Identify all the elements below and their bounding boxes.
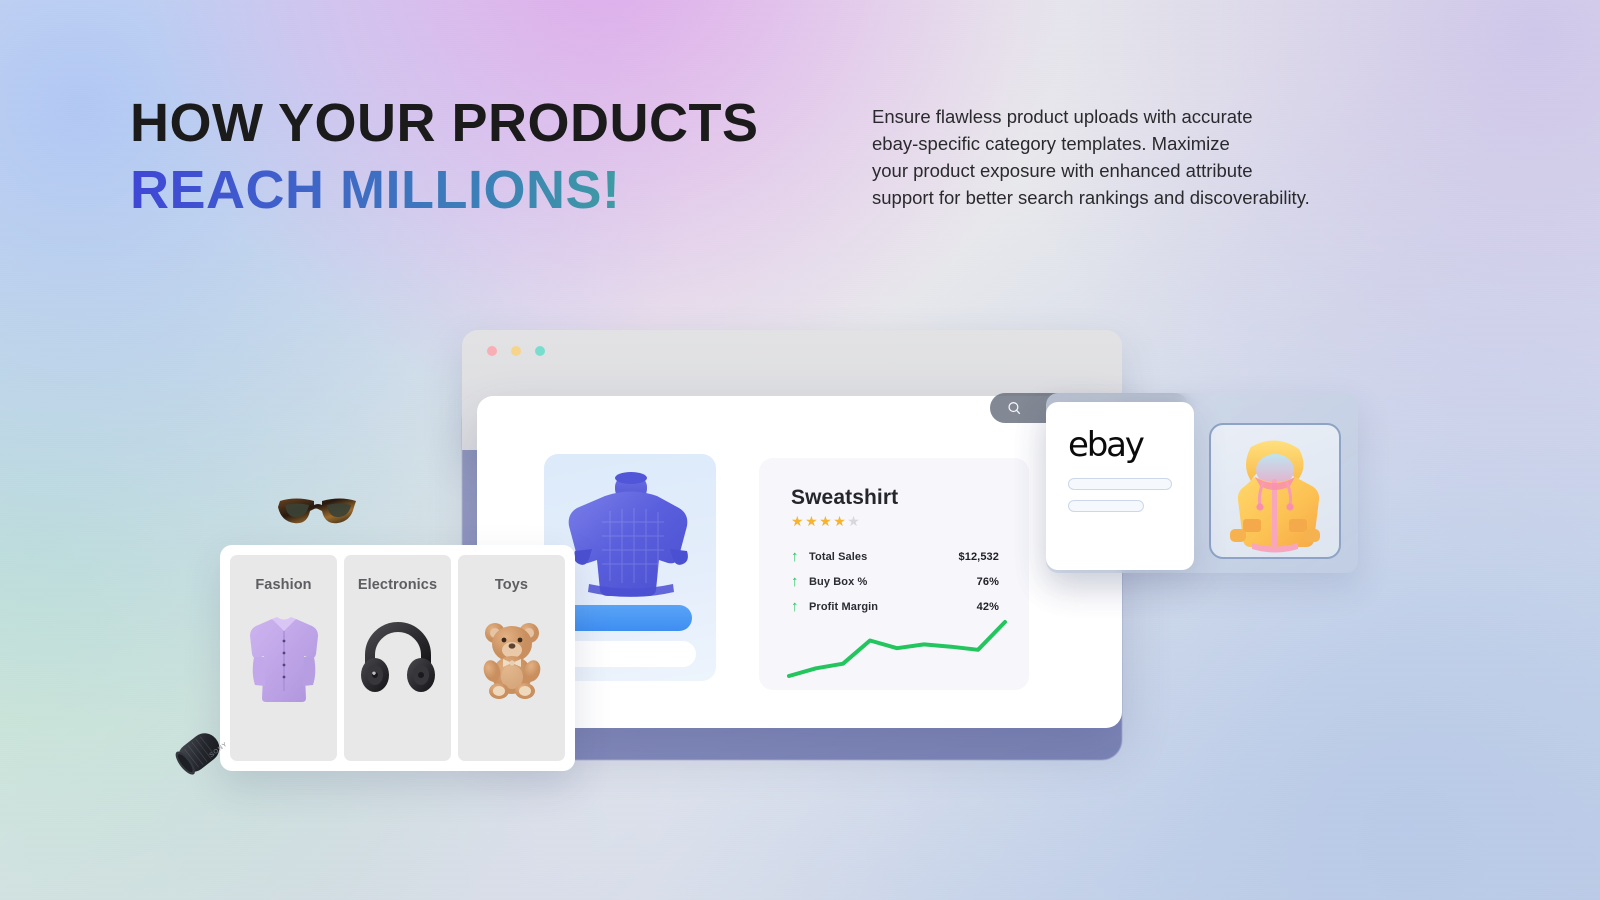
- window-controls[interactable]: [487, 346, 545, 356]
- sales-trend-sparkline: [783, 616, 1011, 682]
- category-tile-toys[interactable]: Toys: [458, 555, 565, 761]
- headline-line-1: HOW YOUR PRODUCTS: [130, 95, 890, 152]
- category-label: Fashion: [255, 577, 311, 593]
- product-secondary-button[interactable]: [562, 641, 696, 667]
- trend-up-icon: ↑: [791, 549, 809, 564]
- category-tile-fashion[interactable]: Fashion: [230, 555, 337, 761]
- page-title: HOW YOUR PRODUCTS REACH MILLIONS!: [130, 95, 890, 219]
- metric-label: Profit Margin: [809, 601, 977, 613]
- minimize-dot-icon[interactable]: [511, 346, 521, 356]
- star-filled-icon: ★: [805, 513, 819, 529]
- product-name: Sweatshirt: [791, 486, 898, 510]
- hero-banner: HOW YOUR PRODUCTS REACH MILLIONS! Ensure…: [0, 0, 1600, 900]
- sweater-3d-icon: [560, 466, 702, 606]
- headline-line-2: REACH MILLIONS!: [130, 162, 890, 219]
- metric-value: $12,532: [959, 551, 999, 563]
- listing-thumbnail-frame[interactable]: [1209, 423, 1341, 559]
- ebay-logo: ebay: [1068, 428, 1143, 462]
- star-filled-icon: ★: [833, 513, 847, 529]
- close-dot-icon[interactable]: [487, 346, 497, 356]
- description-line-2: ebay-specific category templates. Maximi…: [872, 130, 1472, 157]
- category-label: Toys: [495, 577, 528, 593]
- headphones-icon: [356, 611, 440, 703]
- teddy-bear-icon: [470, 611, 554, 703]
- metric-value: 76%: [977, 576, 999, 588]
- description-line-1: Ensure flawless product uploads with acc…: [872, 103, 1472, 130]
- trend-up-icon: ↑: [791, 599, 809, 614]
- star-empty-icon: ★: [847, 513, 861, 529]
- dress-shirt-icon: [242, 611, 326, 703]
- star-filled-icon: ★: [791, 513, 805, 529]
- description-line-3: your product exposure with enhanced attr…: [872, 157, 1472, 184]
- star-filled-icon: ★: [819, 513, 833, 529]
- metric-row: ↑ Total Sales $12,532: [791, 544, 999, 569]
- raincoat-3d-icon: [1211, 425, 1339, 557]
- trend-up-icon: ↑: [791, 574, 809, 589]
- category-cards-group: Fashion: [220, 545, 575, 771]
- metric-value: 42%: [977, 601, 999, 613]
- search-icon: [1006, 400, 1023, 417]
- metric-row: ↑ Buy Box % 76%: [791, 569, 999, 594]
- product-stats-card: Sweatshirt ★★★★★ ↑ Total Sales $12,532 ↑…: [759, 458, 1029, 690]
- metrics-list: ↑ Total Sales $12,532 ↑ Buy Box % 76% ↑ …: [791, 544, 999, 619]
- maximize-dot-icon[interactable]: [535, 346, 545, 356]
- description-line-4: support for better search rankings and d…: [872, 184, 1472, 211]
- category-tile-electronics[interactable]: Electronics: [344, 555, 451, 761]
- skeleton-line: [1068, 478, 1172, 490]
- bluetooth-speaker-icon: SONY: [170, 722, 228, 784]
- skeleton-placeholder-lines: [1068, 478, 1172, 522]
- rating-stars: ★★★★★: [791, 514, 861, 528]
- skeleton-line: [1068, 500, 1144, 512]
- metric-label: Total Sales: [809, 551, 959, 563]
- product-primary-button[interactable]: [562, 605, 692, 631]
- metric-label: Buy Box %: [809, 576, 977, 588]
- category-label: Electronics: [358, 577, 437, 593]
- description-text: Ensure flawless product uploads with acc…: [872, 103, 1472, 211]
- sunglasses-icon: [277, 493, 359, 531]
